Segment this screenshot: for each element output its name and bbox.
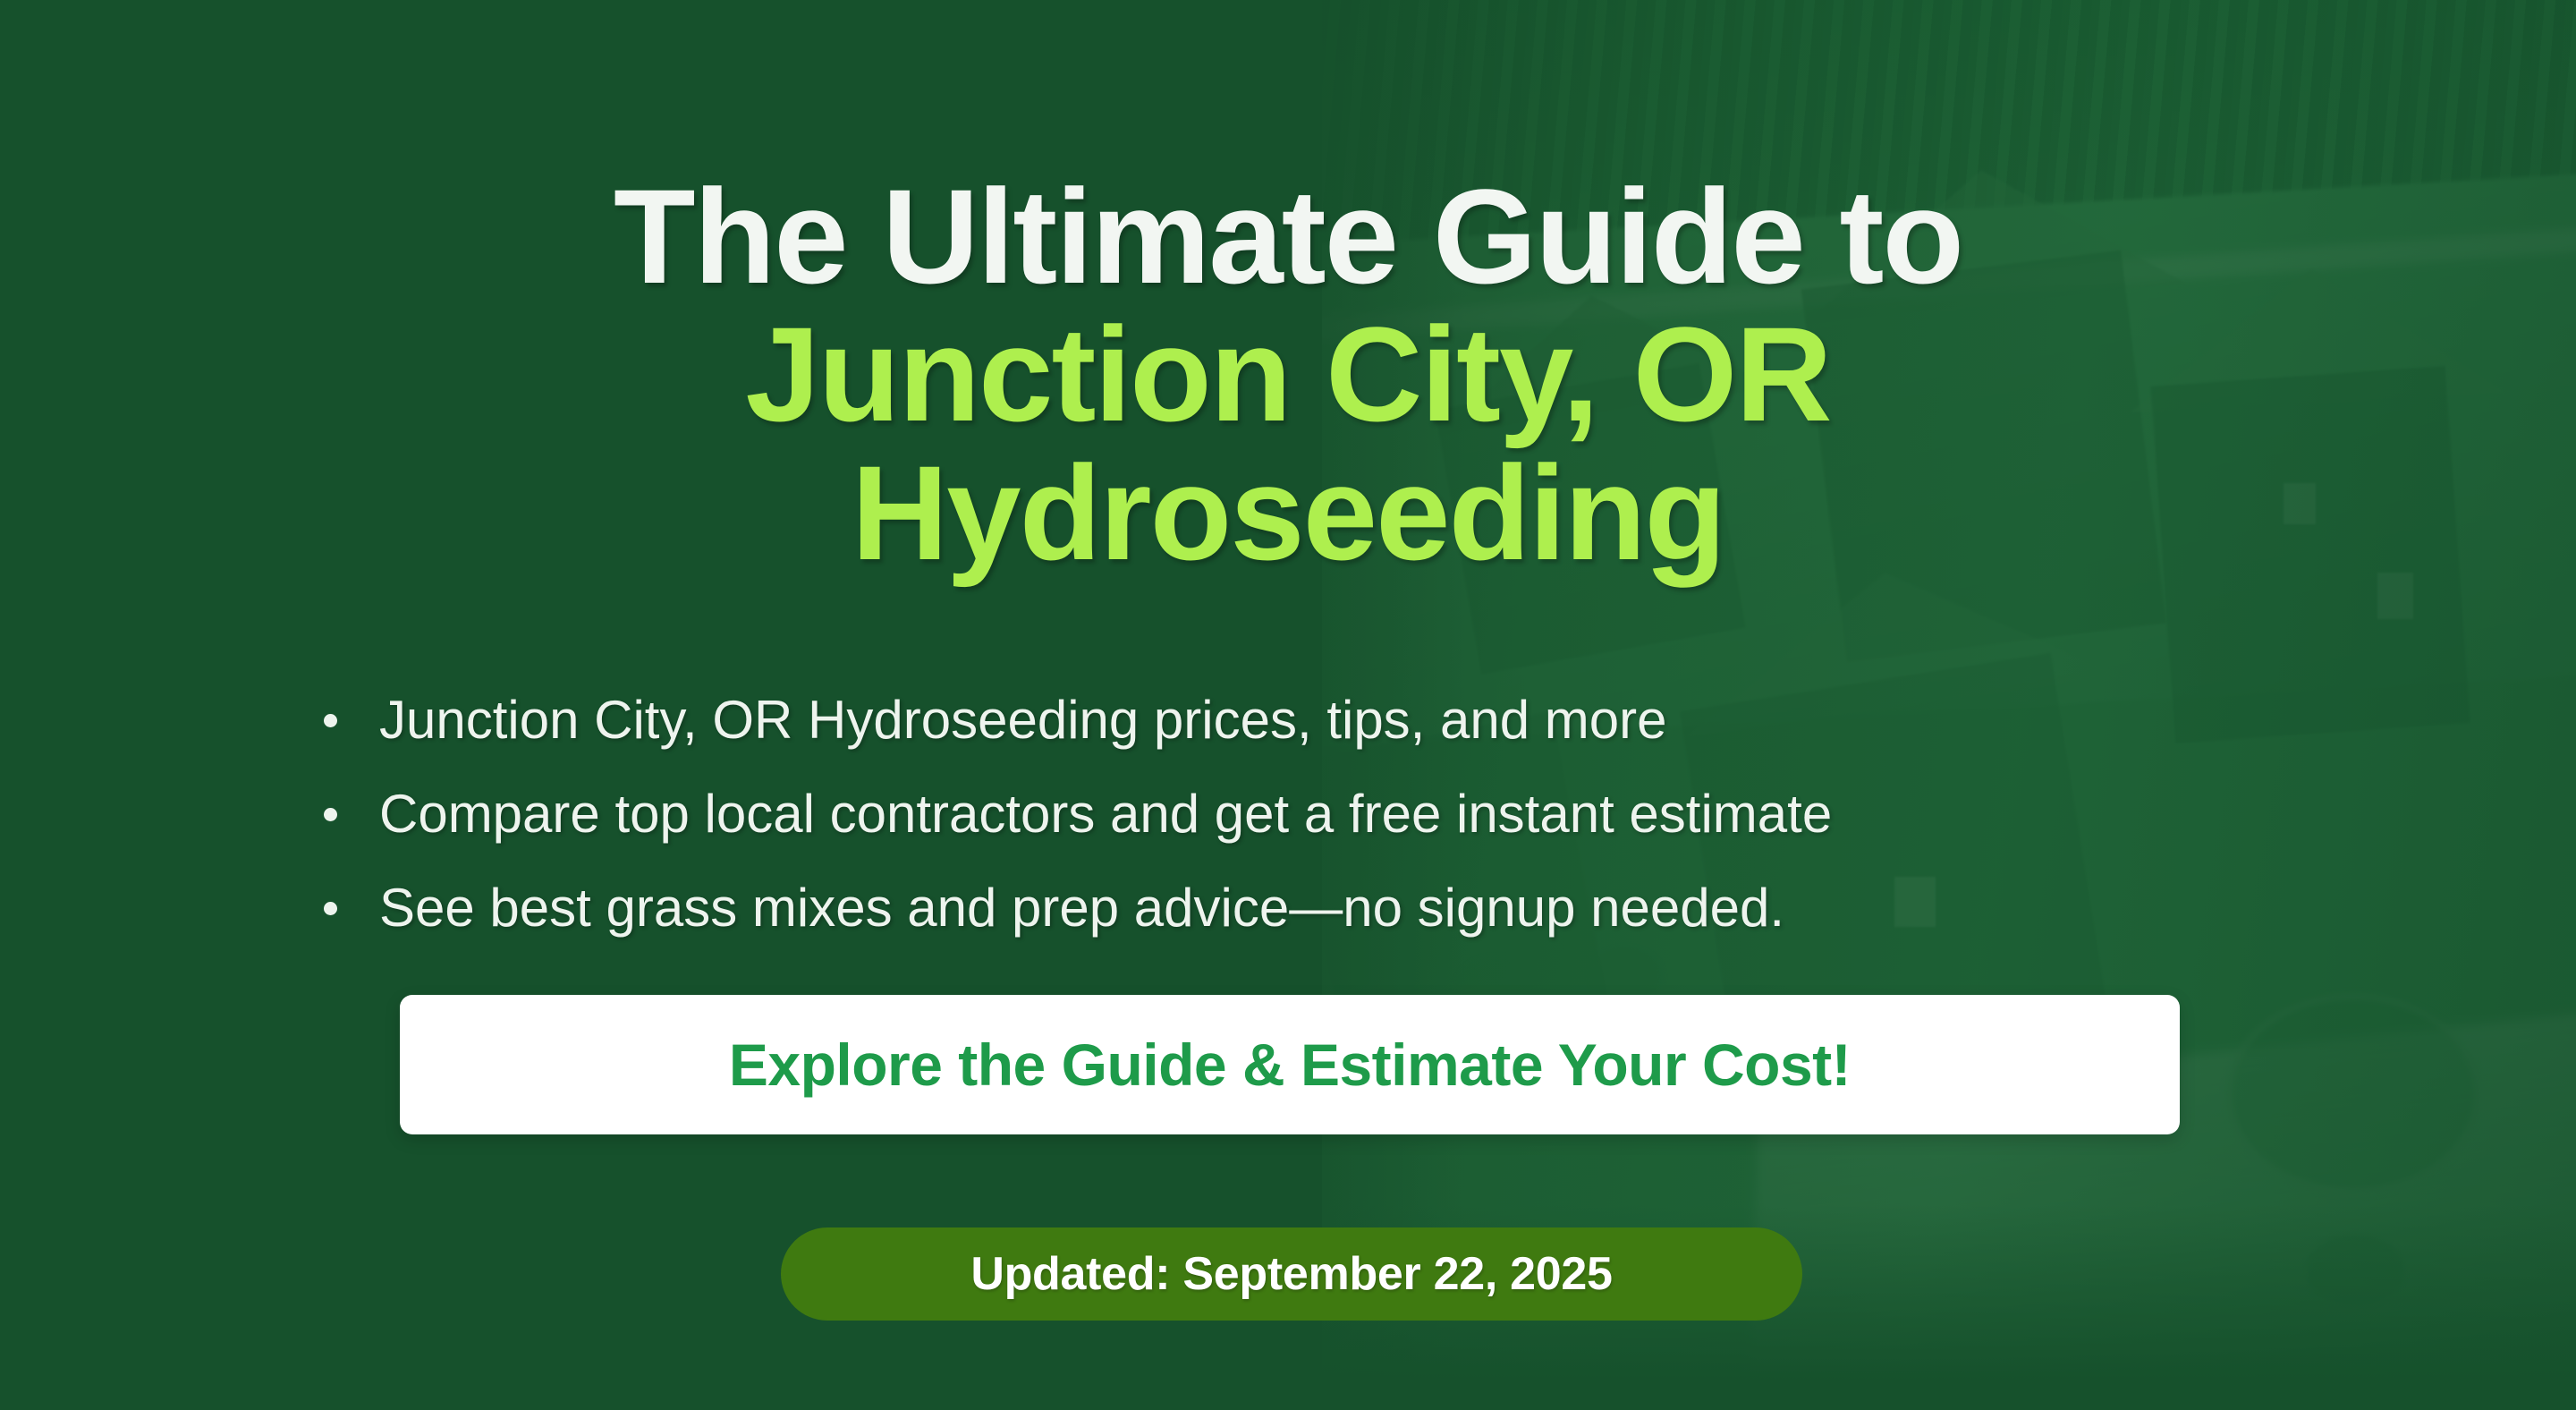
explore-guide-cta-button[interactable]: Explore the Guide & Estimate Your Cost! — [400, 995, 2180, 1134]
bullet-dot-icon — [324, 714, 337, 727]
list-item: Compare top local contractors and get a … — [315, 767, 1832, 861]
bullet-text: See best grass mixes and prep advice—no … — [379, 878, 1784, 938]
headline-line-2: Junction City, OR — [107, 305, 2469, 444]
updated-date-badge: Updated: September 22, 2025 — [781, 1227, 1802, 1321]
hero-banner: The Ultimate Guide to Junction City, OR … — [0, 0, 2576, 1410]
list-item: Junction City, OR Hydroseeding prices, t… — [315, 673, 1832, 767]
bullet-dot-icon — [324, 808, 337, 821]
list-item: See best grass mixes and prep advice—no … — [315, 861, 1832, 955]
feature-bullet-list: Junction City, OR Hydroseeding prices, t… — [315, 673, 1832, 955]
headline-line-1: The Ultimate Guide to — [614, 161, 1962, 311]
banner-content: The Ultimate Guide to Junction City, OR … — [0, 0, 2576, 1410]
page-title: The Ultimate Guide to Junction City, OR … — [0, 167, 2576, 582]
bullet-text: Junction City, OR Hydroseeding prices, t… — [379, 690, 1667, 750]
headline-line-3: Hydroseeding — [107, 444, 2469, 582]
bullet-text: Compare top local contractors and get a … — [379, 784, 1832, 844]
bullet-dot-icon — [324, 902, 337, 915]
